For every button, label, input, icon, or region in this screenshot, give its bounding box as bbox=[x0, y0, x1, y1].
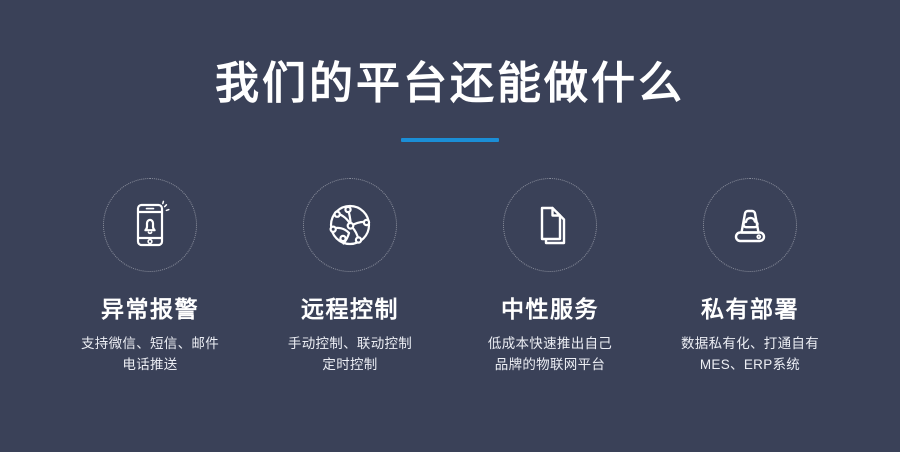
feature-list: 异常报警 支持微信、短信、邮件 电话推送 bbox=[0, 178, 900, 375]
feature-title: 私有部署 bbox=[701, 294, 799, 324]
feature-description: 低成本快速推出自己 品牌的物联网平台 bbox=[488, 333, 612, 375]
feature-item-neutral-service[interactable]: 中性服务 低成本快速推出自己 品牌的物联网平台 bbox=[450, 178, 650, 375]
title-underline-accent bbox=[401, 138, 499, 142]
phone-bell-alert-icon bbox=[124, 199, 176, 251]
feature-description: 数据私有化、打通自有 MES、ERP系统 bbox=[681, 333, 819, 375]
promo-banner: 我们的平台还能做什么 bbox=[0, 0, 900, 452]
icon-ring bbox=[503, 178, 597, 272]
feature-title: 中性服务 bbox=[501, 294, 599, 324]
feature-item-remote-control[interactable]: 远程控制 手动控制、联动控制 定时控制 bbox=[250, 178, 450, 375]
feature-title: 远程控制 bbox=[301, 294, 399, 324]
network-globe-icon bbox=[324, 199, 376, 251]
icon-ring bbox=[703, 178, 797, 272]
feature-title: 异常报警 bbox=[101, 294, 199, 324]
heading-block: 我们的平台还能做什么 bbox=[0, 58, 900, 142]
stacked-documents-icon bbox=[524, 199, 576, 251]
feature-description: 手动控制、联动控制 定时控制 bbox=[288, 333, 412, 375]
feature-description: 支持微信、短信、邮件 电话推送 bbox=[81, 333, 219, 375]
feature-item-private-deployment[interactable]: 私有部署 数据私有化、打通自有 MES、ERP系统 bbox=[650, 178, 850, 375]
feature-item-alarm[interactable]: 异常报警 支持微信、短信、邮件 电话推送 bbox=[50, 178, 250, 375]
page-title: 我们的平台还能做什么 bbox=[0, 58, 900, 110]
icon-ring bbox=[103, 178, 197, 272]
cloud-server-icon bbox=[724, 199, 776, 251]
icon-ring bbox=[303, 178, 397, 272]
